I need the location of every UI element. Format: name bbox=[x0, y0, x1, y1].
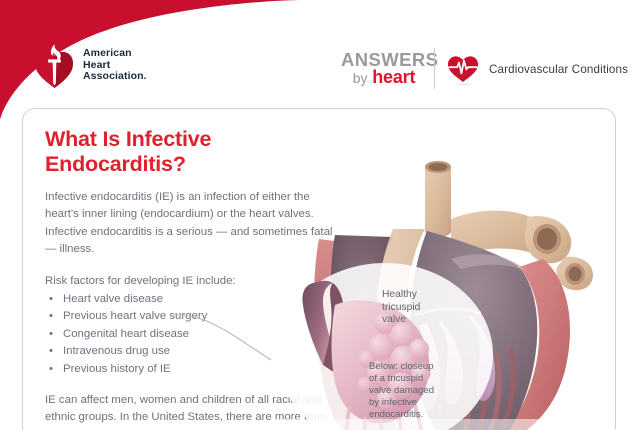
bullet-glyph: • bbox=[49, 343, 53, 360]
heart-cross-section-illustration bbox=[275, 109, 615, 430]
heart-word: heart bbox=[372, 67, 415, 87]
by-heart-words: by heart bbox=[341, 68, 427, 87]
category-badge: Cardiovascular Conditions bbox=[446, 52, 628, 86]
list-item-label: Intravenous drug use bbox=[63, 345, 170, 357]
bullet-glyph: • bbox=[49, 361, 53, 378]
page-root: American Heart Association. ANSWERS by h… bbox=[0, 0, 644, 430]
category-label: Cardiovascular Conditions bbox=[489, 63, 628, 76]
content-card: What Is Infective Endocarditis? Infectiv… bbox=[22, 108, 616, 430]
page-header: American Heart Association. ANSWERS by h… bbox=[0, 0, 644, 108]
header-divider bbox=[434, 48, 435, 89]
by-word: by bbox=[353, 70, 368, 86]
aha-heart-torch-icon bbox=[34, 42, 74, 89]
aha-logo-text: American Heart Association. bbox=[83, 48, 147, 83]
aha-logo-line-1: American bbox=[83, 48, 147, 60]
annotation-closeup-note: Below: closeup of a tricuspid valve dama… bbox=[369, 361, 443, 421]
bullet-glyph: • bbox=[49, 291, 53, 308]
heart-ekg-icon bbox=[446, 52, 480, 86]
list-item-label: Previous heart valve surgery bbox=[63, 310, 207, 322]
list-item-label: Heart valve disease bbox=[63, 293, 163, 305]
bullet-glyph: • bbox=[49, 308, 53, 325]
list-item-label: Congenital heart disease bbox=[63, 328, 189, 340]
aha-logo-line-3: Association. bbox=[83, 71, 147, 83]
answers-by-heart-logo: ANSWERS by heart bbox=[341, 50, 427, 87]
american-heart-association-logo: American Heart Association. bbox=[34, 42, 147, 89]
annotation-healthy-valve: Healthy tricuspid valve bbox=[382, 289, 446, 327]
bullet-glyph: • bbox=[49, 326, 53, 343]
list-item-label: Previous history of IE bbox=[63, 363, 171, 375]
